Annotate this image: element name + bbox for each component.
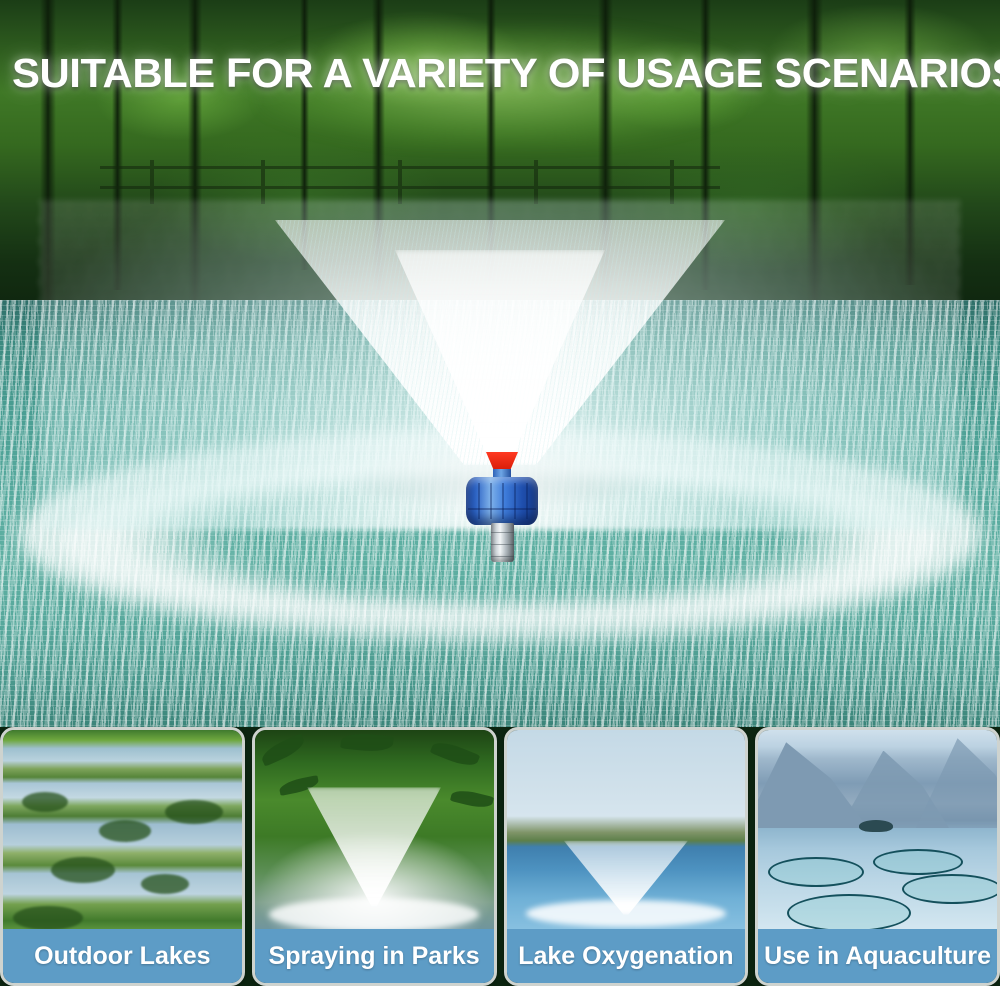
scenario-photo-outdoor-lakes [3, 730, 242, 935]
scenario-caption: Use in Aquaculture [758, 929, 997, 983]
scenario-card-outdoor-lakes[interactable]: Outdoor Lakes [0, 727, 245, 986]
scenario-caption: Lake Oxygenation [507, 929, 746, 983]
product-feature-image: SUITABLE FOR A VARIETY OF USAGE SCENARIO… [0, 0, 1000, 986]
page-title: SUITABLE FOR A VARIETY OF USAGE SCENARIO… [12, 48, 1000, 98]
red-spray-nozzle-icon [486, 452, 518, 470]
scenario-caption: Spraying in Parks [255, 929, 494, 983]
usage-scenario-strip: Outdoor Lakes Spraying in Parks [0, 727, 1000, 986]
rustic-fence [100, 160, 720, 204]
scenario-card-lake-oxygenation[interactable]: Lake Oxygenation [504, 727, 749, 986]
scenario-card-use-in-aquaculture[interactable]: Use in Aquaculture [755, 727, 1000, 986]
scenario-photo-use-in-aquaculture [758, 730, 997, 935]
scenario-photo-lake-oxygenation [507, 730, 746, 935]
hero-scene: SUITABLE FOR A VARIETY OF USAGE SCENARIO… [0, 0, 1000, 727]
stainless-steel-pump-housing [491, 523, 514, 562]
scenario-card-spraying-in-parks[interactable]: Spraying in Parks [252, 727, 497, 986]
floating-fountain-device [466, 452, 538, 562]
scenario-photo-spraying-in-parks [255, 730, 494, 935]
blue-float-body [466, 477, 538, 525]
scenario-caption: Outdoor Lakes [3, 929, 242, 983]
